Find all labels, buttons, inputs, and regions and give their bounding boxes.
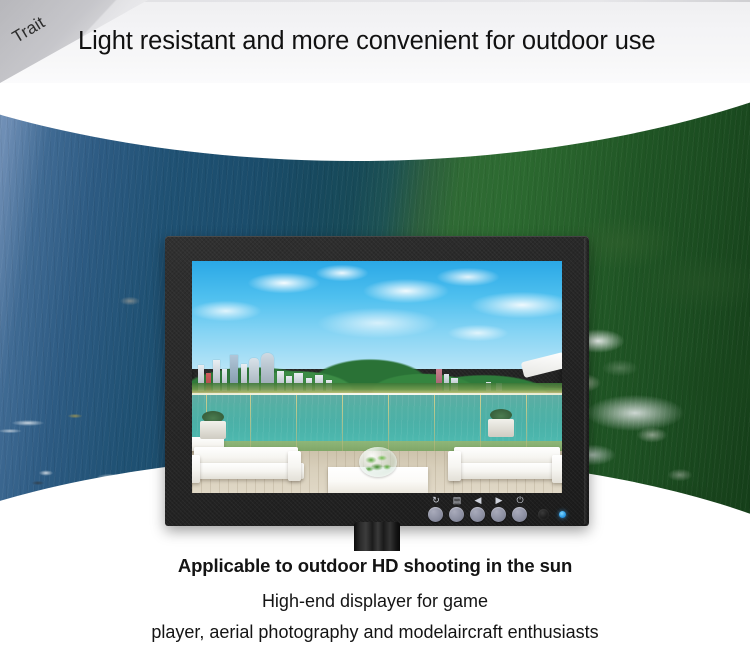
right-sofa-seat <box>450 463 562 479</box>
railing-top-rail <box>192 393 562 395</box>
monitor-stand-neck <box>354 522 400 551</box>
ir-receiver-icon <box>538 509 549 520</box>
caption-headline: Applicable to outdoor HD shooting in the… <box>0 555 750 577</box>
monitor-bezel: ↻ ▤ ◀ ▶ ⏻ <box>165 236 589 526</box>
source-button[interactable] <box>428 507 443 522</box>
caption-block: Applicable to outdoor HD shooting in the… <box>0 551 750 665</box>
left-button[interactable] <box>470 507 485 522</box>
right-sofa-armrest <box>448 451 461 481</box>
right-button[interactable] <box>491 507 506 522</box>
monitor-control-panel: ↻ ▤ ◀ ▶ ⏻ <box>428 494 568 524</box>
left-sofa-armrest <box>192 455 200 483</box>
right-sofa-armrest-far <box>552 455 562 483</box>
lcd-monitor: ↻ ▤ ◀ ▶ ⏻ <box>165 236 589 551</box>
right-arrow-icon: ▶ <box>491 494 507 506</box>
menu-button[interactable] <box>449 507 464 522</box>
aerial-bay-photo-band: ↻ ▤ ◀ ▶ ⏻ <box>0 83 750 551</box>
caption-line-3: player, aerial photography and modelairc… <box>0 622 750 643</box>
menu-icon: ▤ <box>449 494 465 506</box>
monitor-screen <box>192 261 562 493</box>
left-sofa-armrest-far <box>288 451 301 481</box>
power-button[interactable] <box>512 507 527 522</box>
caption-line-2: High-end displayer for game <box>0 591 750 612</box>
source-input-icon: ↻ <box>428 494 444 506</box>
left-planter <box>200 421 226 439</box>
bezel-right-edge <box>584 238 589 524</box>
header-band: Trait Light resistant and more convenien… <box>0 0 750 83</box>
power-led-indicator <box>559 511 566 518</box>
left-arrow-icon: ◀ <box>470 494 486 506</box>
product-feature-banner: Trait Light resistant and more convenien… <box>0 0 750 665</box>
right-planter <box>488 419 514 437</box>
power-icon: ⏻ <box>512 494 528 506</box>
page-title: Light resistant and more convenient for … <box>78 0 656 83</box>
